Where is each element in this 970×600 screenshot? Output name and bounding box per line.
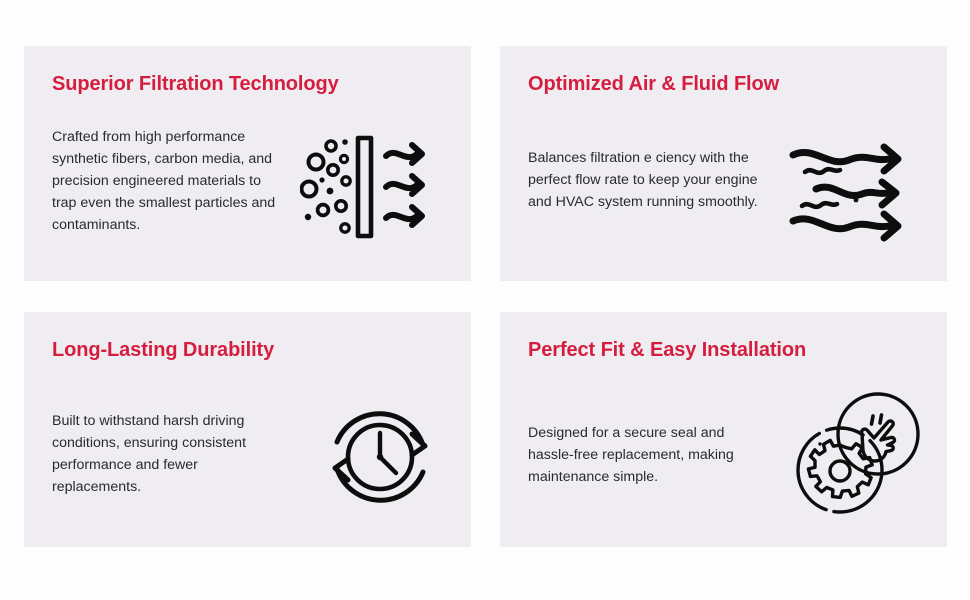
feature-card-optimized-air-and-fluid-flow: Optimized Air & Fluid Flow Balances filt… [500, 46, 947, 281]
feature-card-perfect-fit-and-easy-installation: Perfect Fit & Easy Installation Designed… [500, 312, 947, 547]
feature-card-long-lasting-durability: Long-Lasting Durability Built to withsta… [24, 312, 471, 547]
feature-card-grid: Superior Filtration Technology Crafted f… [24, 46, 947, 547]
airflow-wavy-arrows-icon [788, 142, 922, 247]
card-body-text: Crafted from high performance synthetic … [52, 126, 284, 236]
card-heading: Optimized Air & Fluid Flow [528, 73, 779, 96]
card-heading: Superior Filtration Technology [52, 73, 339, 96]
card-body-text: Balances filtration e ciency with the pe… [528, 147, 760, 213]
gear-hand-click-icon [792, 390, 920, 518]
card-body-text: Built to withstand harsh driving conditi… [52, 410, 284, 498]
card-body-text: Designed for a secure seal and hassle-fr… [528, 422, 760, 488]
feature-card-superior-filtration-technology: Superior Filtration Technology Crafted f… [24, 46, 471, 281]
air-filter-particles-icon [300, 132, 450, 242]
card-heading: Perfect Fit & Easy Installation [528, 339, 806, 362]
card-heading: Long-Lasting Durability [52, 339, 274, 362]
clock-rotation-arrows-icon [320, 397, 440, 517]
